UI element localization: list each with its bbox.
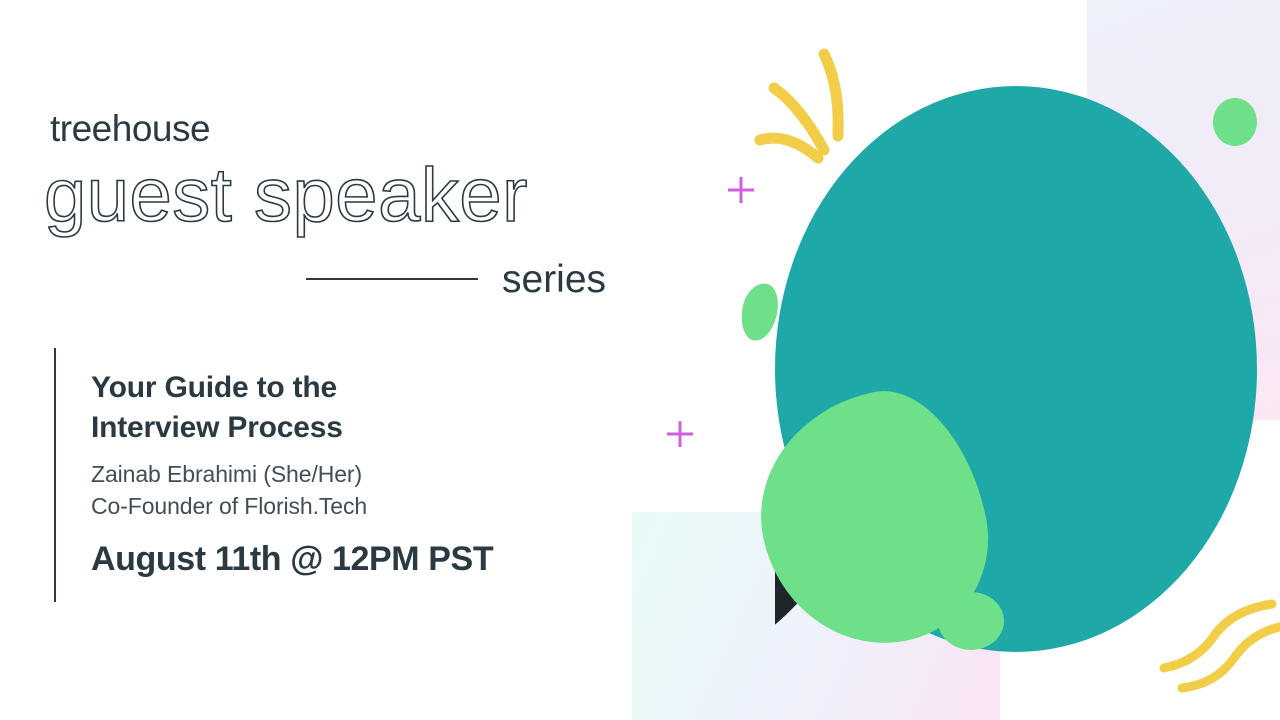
yellow-sparkle-strokes-icon <box>744 36 884 176</box>
series-row: series <box>306 256 626 302</box>
magenta-plus-icon-lower <box>665 419 695 449</box>
talk-title-line-1: Your Guide to the <box>91 368 611 408</box>
info-left-vertical-rule <box>54 348 56 602</box>
green-blob-bottom <box>938 592 1004 650</box>
talk-title-line-2: Interview Process <box>91 408 611 448</box>
speaker-name: Zainab Ebrahimi (She/Her) <box>91 459 611 491</box>
guest-speaker-headline: guest speaker <box>44 158 528 234</box>
magenta-plus-icon-upper <box>726 175 756 205</box>
series-label: series <box>502 260 606 299</box>
speaker-role: Co-Founder of Florish.Tech <box>91 491 611 523</box>
event-info-block: Your Guide to the Interview Process Zain… <box>91 368 611 578</box>
series-divider-rule <box>306 278 478 280</box>
event-datetime: August 11th @ 12PM PST <box>91 541 611 578</box>
treehouse-wordmark: treehouse <box>50 110 210 147</box>
yellow-squiggle-lines-icon <box>1152 588 1280 698</box>
guest-speaker-promo-slide: treehouse guest speaker series Your Guid… <box>0 0 1280 720</box>
